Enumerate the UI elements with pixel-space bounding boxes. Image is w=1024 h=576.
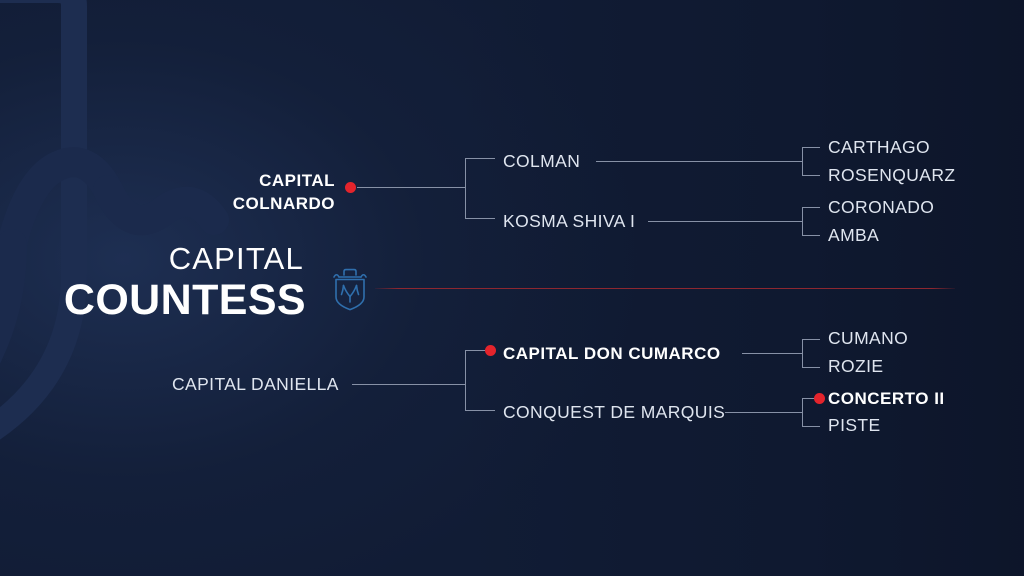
connector-dam-gen2-bottom xyxy=(465,410,495,411)
connector-sire-trunk xyxy=(357,187,465,188)
connector-sire-gen3a-stem xyxy=(596,161,802,162)
connector-dam-gen3a-stem xyxy=(742,353,802,354)
heraldic-shield-icon xyxy=(331,266,369,312)
connector-dam-gen3b-stem xyxy=(725,412,802,413)
node-label-line2: COLNARDO xyxy=(175,193,335,216)
page-title: CAPITAL COUNTESS xyxy=(0,243,306,322)
connector-sire-gen2-bracket xyxy=(465,158,466,218)
connector-dam-gen2-top xyxy=(465,350,485,351)
connector-dam-gen3a-bottom xyxy=(802,367,820,368)
marker-dot-sire-gen1 xyxy=(345,182,356,193)
connector-dam-trunk xyxy=(352,384,465,385)
marker-dot-dam-gen3-2 xyxy=(814,393,825,404)
node-dam-gen3-3[interactable]: PISTE xyxy=(828,415,881,435)
node-sire-gen3-0[interactable]: CARTHAGO xyxy=(828,137,930,157)
connector-sire-gen3b-bracket xyxy=(802,207,803,235)
connector-dam-gen3b-bottom xyxy=(802,426,820,427)
node-dam-gen3-2[interactable]: CONCERTO II xyxy=(828,389,945,409)
node-dam-gen3-0[interactable]: CUMANO xyxy=(828,328,908,348)
connector-sire-gen3a-bracket xyxy=(802,147,803,175)
node-label-line1: CAPITAL xyxy=(175,170,335,193)
node-sire-gen2-0[interactable]: COLMAN xyxy=(503,151,580,171)
connector-dam-gen3a-bracket xyxy=(802,339,803,367)
connector-dam-gen3b-bracket xyxy=(802,398,803,426)
node-sire-gen1[interactable]: CAPITAL COLNARDO xyxy=(175,170,335,216)
connector-sire-gen2-bottom xyxy=(465,218,495,219)
connector-dam-gen3a-top xyxy=(802,339,820,340)
connector-sire-gen3b-stem xyxy=(648,221,802,222)
divider-line xyxy=(375,288,955,289)
node-sire-gen3-2[interactable]: CORONADO xyxy=(828,197,934,217)
node-dam-gen2-0[interactable]: CAPITAL DON CUMARCO xyxy=(503,344,721,364)
marker-dot-dam-gen2-0 xyxy=(485,345,496,356)
connector-sire-gen2-top xyxy=(465,158,495,159)
node-dam-gen1[interactable]: CAPITAL DANIELLA xyxy=(172,374,339,394)
connector-sire-gen3a-top xyxy=(802,147,820,148)
node-sire-gen3-3[interactable]: AMBA xyxy=(828,225,879,245)
node-dam-gen2-1[interactable]: CONQUEST DE MARQUIS xyxy=(503,402,725,422)
node-dam-gen3-1[interactable]: ROZIE xyxy=(828,356,883,376)
title-subtitle: CAPITAL xyxy=(0,243,306,274)
node-sire-gen2-1[interactable]: KOSMA SHIVA I xyxy=(503,211,635,231)
connector-sire-gen3a-bottom xyxy=(802,175,820,176)
node-sire-gen3-1[interactable]: ROSENQUARZ xyxy=(828,165,955,185)
connector-dam-gen2-bracket xyxy=(465,350,466,410)
connector-sire-gen3b-bottom xyxy=(802,235,820,236)
pedigree-slide: CAPITAL COUNTESS CAPITAL COLNARDO xyxy=(0,0,1024,576)
title-main: COUNTESS xyxy=(0,279,306,322)
connector-sire-gen3b-top xyxy=(802,207,820,208)
